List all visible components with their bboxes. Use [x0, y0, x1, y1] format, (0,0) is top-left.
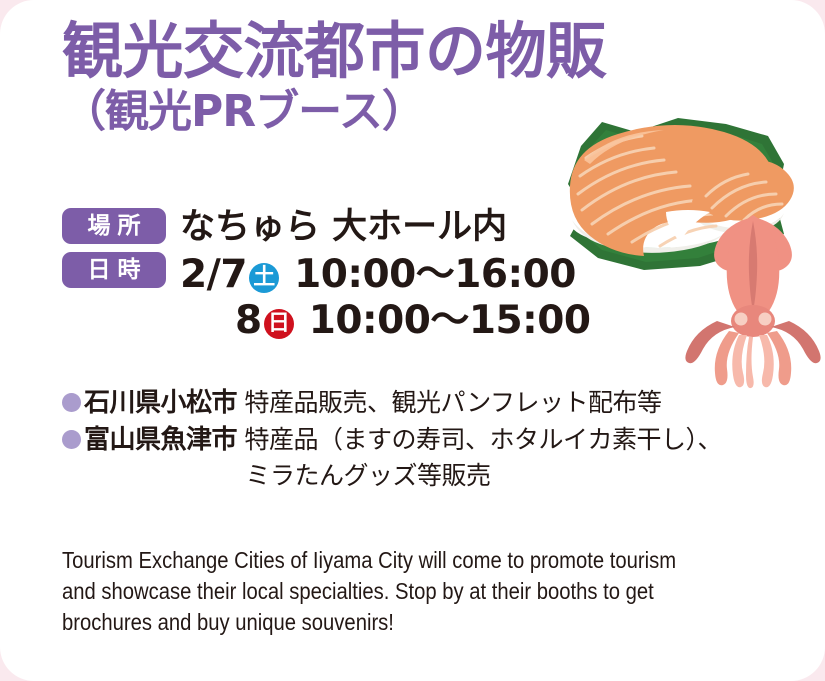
- bullet-desc-2: 特産品（ますの寿司、ホタルイカ素干し）、: [237, 425, 722, 454]
- datetime-time-1: 10:00〜16:00: [281, 252, 576, 297]
- page-subtitle: （観光PRブース）: [62, 88, 702, 136]
- place-row: 場所 なちゅら 大ホール内: [62, 208, 591, 246]
- bullet-city-1: 石川県小松市: [84, 388, 237, 418]
- title-block: 観光交流都市の物販 （観光PRブース）: [62, 22, 702, 135]
- bullet-desc-2-line2: ミラたんグッズ等販売: [84, 459, 722, 492]
- place-value: なちゅら 大ホール内: [180, 208, 507, 246]
- bullet-city-2: 富山県魚津市: [84, 425, 237, 455]
- place-badge: 場所: [62, 208, 166, 244]
- day-badge-saturday: 土: [249, 263, 279, 293]
- page-title: 観光交流都市の物販: [62, 22, 702, 82]
- english-paragraph: Tourism Exchange Cities of Iiyama City w…: [62, 545, 691, 638]
- bullet-dot-icon: [62, 393, 81, 412]
- datetime-values: 2/7土 10:00〜16:00 8日 10:00〜15:00: [180, 252, 591, 344]
- datetime-row: 日時 2/7土 10:00〜16:00 8日 10:00〜15:00: [62, 252, 591, 344]
- datetime-date-1: 2/7: [180, 252, 247, 297]
- list-item: 富山県魚津市 特産品（ますの寿司、ホタルイカ素干し）、 ミラたんグッズ等販売: [62, 423, 792, 492]
- datetime-badge: 日時: [62, 252, 166, 288]
- english-description: Tourism Exchange Cities of Iiyama City w…: [62, 545, 691, 638]
- datetime-date-2: 8: [235, 298, 262, 343]
- day-badge-sunday: 日: [264, 309, 294, 339]
- bullet-list: 石川県小松市 特産品販売、観光パンフレット配布等 富山県魚津市 特産品（ますの寿…: [62, 386, 792, 495]
- bullet-dot-icon: [62, 430, 81, 449]
- datetime-time-2: 10:00〜15:00: [296, 298, 591, 343]
- poster-card: 観光交流都市の物販 （観光PRブース） 場所 なちゅら 大ホール内 日時 2/7…: [0, 0, 825, 681]
- list-item: 石川県小松市 特産品販売、観光パンフレット配布等: [62, 386, 792, 420]
- info-block: 場所 なちゅら 大ホール内 日時 2/7土 10:00〜16:00 8日 10:…: [62, 208, 591, 350]
- firefly-squid-illustration: [683, 215, 823, 390]
- bullet-content: 石川県小松市 特産品販売、観光パンフレット配布等: [84, 386, 661, 420]
- bullet-desc-1: 特産品販売、観光パンフレット配布等: [237, 388, 661, 417]
- bullet-content: 富山県魚津市 特産品（ますの寿司、ホタルイカ素干し）、 ミラたんグッズ等販売: [84, 423, 722, 492]
- datetime-line-1: 2/7土 10:00〜16:00: [180, 252, 591, 298]
- datetime-line-2: 8日 10:00〜15:00: [180, 298, 591, 344]
